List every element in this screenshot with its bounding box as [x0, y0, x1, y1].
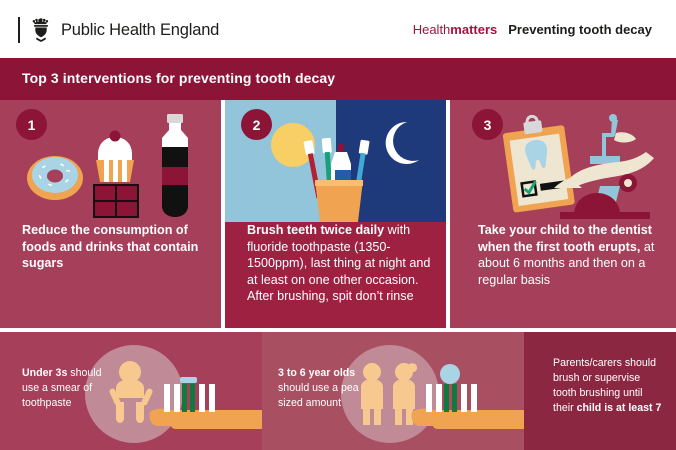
age-guidance-text-3: Parents/carers should brush or supervise…	[553, 356, 665, 416]
organisation-name: Public Health England	[61, 21, 219, 40]
royal-crest-icon	[28, 17, 54, 43]
toothbrush-pea-icon	[411, 364, 524, 429]
fizzy-drink-bottle-icon	[162, 114, 188, 217]
age-guidance-label-1: Under 3s	[22, 367, 67, 379]
step-number-badge: 2	[241, 109, 272, 140]
step-number-badge: 1	[16, 109, 47, 140]
age-guidance-text-2: 3 to 6 year olds should use a pea sized …	[278, 366, 376, 411]
intervention-panel-3: 3	[450, 100, 676, 328]
cupcake-icon	[96, 131, 134, 183]
moon-icon	[386, 122, 419, 164]
page-header: Public Health England Healthmatters Prev…	[0, 0, 676, 58]
age-guidance-panel-3-to-6: 3 to 6 year olds should use a pea sized …	[262, 332, 524, 450]
intervention-panel-1: 1	[0, 100, 221, 328]
intervention-text-2: Brush teeth twice daily with fluoride to…	[247, 222, 432, 305]
topic-title: Preventing tooth decay	[508, 22, 652, 37]
health-matters-label: Healthmatters Preventing tooth decay	[413, 22, 652, 37]
section-title-bar: Top 3 interventions for preventing tooth…	[0, 58, 676, 100]
health-word: Health	[413, 22, 451, 37]
age-guidance-rest-2: should use a pea sized amount	[278, 382, 359, 409]
intervention-text-3: Take your child to the dentist when the …	[478, 222, 662, 288]
interventions-row: 1	[0, 100, 676, 328]
age-guidance-text-1: Under 3s should use a smear of toothpast…	[22, 366, 114, 411]
matters-word: matters	[450, 22, 497, 37]
age-guidance-panel-under-3s: Under 3s should use a smear of toothpast…	[0, 332, 262, 450]
toothbrush-smear-icon	[149, 377, 262, 429]
intervention-text-1-bold: Reduce the consumption of foods and drin…	[22, 223, 198, 270]
phe-brand: Public Health England	[18, 16, 219, 44]
age-guidance-panel-parents: Parents/carers should brush or supervise…	[524, 332, 676, 450]
age-guidance-label-3: child is at least 7	[577, 402, 662, 414]
section-title: Top 3 interventions for preventing tooth…	[22, 70, 335, 86]
step-number-badge: 3	[472, 109, 503, 140]
baby-icon	[108, 361, 153, 423]
age-guidance-row: Under 3s should use a smear of toothpast…	[0, 332, 676, 450]
brand-divider	[18, 17, 20, 43]
age-guidance-label-2: 3 to 6 year olds	[278, 367, 355, 379]
toothbrush-cup-icon	[303, 138, 369, 222]
chocolate-bar-icon	[93, 184, 139, 218]
intervention-text-1: Reduce the consumption of foods and drin…	[22, 222, 207, 272]
dental-clipboard-icon	[501, 112, 575, 213]
infographic-page: Public Health England Healthmatters Prev…	[0, 0, 676, 450]
intervention-panel-2: 2	[225, 100, 446, 328]
intervention-text-3-bold: Take your child to the dentist when the …	[478, 223, 652, 254]
intervention-text-2-bold: Brush teeth twice daily	[247, 223, 384, 237]
doughnut-icon	[27, 156, 83, 200]
